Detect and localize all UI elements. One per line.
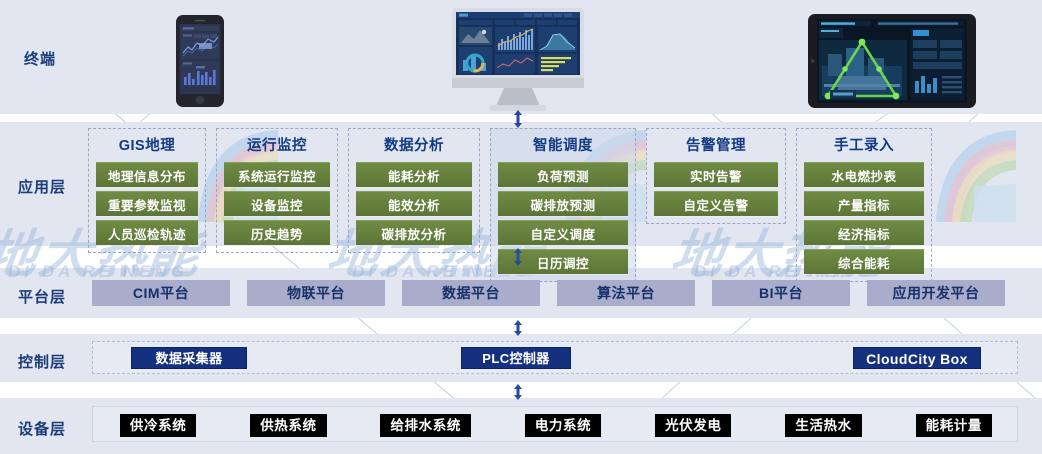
device-item-water-supply-drainage[interactable]: 给排水系统 bbox=[380, 414, 471, 437]
control-item-cloudcity-box[interactable]: CloudCity Box bbox=[853, 347, 981, 369]
app-group-data-analysis[interactable]: 数据分析 能耗分析 能效分析 碳排放分析 bbox=[348, 128, 480, 253]
app-item-data-2[interactable]: 碳排放分析 bbox=[356, 220, 472, 245]
layer-label-terminal: 终端 bbox=[24, 48, 56, 69]
device-item-cooling[interactable]: 供冷系统 bbox=[120, 414, 196, 437]
application-group-row: GIS地理 地理信息分布 重要参数监视 人员巡检轨迹 运行监控 系统运行监控 设… bbox=[88, 128, 932, 282]
app-group-title-smart-scheduling: 智能调度 bbox=[498, 133, 628, 158]
device-item-power[interactable]: 电力系统 bbox=[525, 414, 601, 437]
app-item-alarm-0[interactable]: 实时告警 bbox=[654, 162, 778, 187]
terminal-device-monitor bbox=[452, 8, 584, 114]
platform-item-data[interactable]: 数据平台 bbox=[402, 280, 540, 306]
platform-item-app-dev[interactable]: 应用开发平台 bbox=[867, 280, 1005, 306]
platform-item-cim[interactable]: CIM平台 bbox=[92, 280, 230, 306]
arrow-control-device bbox=[512, 384, 524, 400]
control-item-plc-controller[interactable]: PLC控制器 bbox=[461, 347, 571, 369]
app-item-manual-1[interactable]: 产量指标 bbox=[804, 191, 924, 216]
app-group-alarm-management[interactable]: 告警管理 实时告警 自定义告警 bbox=[646, 128, 786, 224]
platform-item-algorithm[interactable]: 算法平台 bbox=[557, 280, 695, 306]
app-group-title-operation-monitoring: 运行监控 bbox=[224, 133, 330, 158]
terminal-device-smartphone bbox=[176, 15, 224, 107]
app-item-sched-0[interactable]: 负荷预测 bbox=[498, 162, 628, 187]
app-item-sched-1[interactable]: 碳排放预测 bbox=[498, 191, 628, 216]
control-item-container: 数据采集器 PLC控制器 CloudCity Box bbox=[92, 341, 1018, 374]
device-item-energy-metering[interactable]: 能耗计量 bbox=[916, 414, 992, 437]
device-item-row: 供冷系统 供热系统 给排水系统 电力系统 光伏发电 生活热水 能耗计量 bbox=[93, 407, 1019, 443]
app-item-gis-0[interactable]: 地理信息分布 bbox=[96, 162, 198, 187]
architecture-diagram: 地大热能 DI DA RE NENG 地大热能 DI DA RE NENG 地大… bbox=[0, 0, 1042, 454]
arrow-application-platform bbox=[512, 248, 524, 266]
app-item-alarm-1[interactable]: 自定义告警 bbox=[654, 191, 778, 216]
app-item-manual-3[interactable]: 综合能耗 bbox=[804, 249, 924, 274]
app-group-title-alarm-management: 告警管理 bbox=[654, 133, 778, 158]
device-item-photovoltaic[interactable]: 光伏发电 bbox=[655, 414, 731, 437]
device-item-domestic-hot-water[interactable]: 生活热水 bbox=[785, 414, 861, 437]
app-group-operation-monitoring[interactable]: 运行监控 系统运行监控 设备监控 历史趋势 bbox=[216, 128, 338, 253]
app-item-data-0[interactable]: 能耗分析 bbox=[356, 162, 472, 187]
layer-label-device: 设备层 bbox=[18, 418, 66, 439]
app-item-sched-2[interactable]: 自定义调度 bbox=[498, 220, 628, 245]
app-item-gis-1[interactable]: 重要参数监视 bbox=[96, 191, 198, 216]
app-item-manual-0[interactable]: 水电燃抄表 bbox=[804, 162, 924, 187]
platform-item-bi[interactable]: BI平台 bbox=[712, 280, 850, 306]
app-item-gis-2[interactable]: 人员巡检轨迹 bbox=[96, 220, 198, 245]
terminal-device-tablet bbox=[808, 14, 976, 108]
arrow-platform-control bbox=[512, 320, 524, 336]
arrow-terminal-application bbox=[512, 110, 524, 128]
layer-label-control: 控制层 bbox=[18, 351, 66, 372]
app-item-data-1[interactable]: 能效分析 bbox=[356, 191, 472, 216]
app-item-operation-1[interactable]: 设备监控 bbox=[224, 191, 330, 216]
device-item-container: 供冷系统 供热系统 给排水系统 电力系统 光伏发电 生活热水 能耗计量 bbox=[92, 406, 1018, 442]
device-item-heating[interactable]: 供热系统 bbox=[250, 414, 326, 437]
app-group-title-data-analysis: 数据分析 bbox=[356, 133, 472, 158]
app-group-title-manual-entry: 手工录入 bbox=[804, 133, 924, 158]
layer-label-platform: 平台层 bbox=[18, 286, 66, 307]
layer-label-application: 应用层 bbox=[18, 176, 66, 197]
control-item-data-collector[interactable]: 数据采集器 bbox=[131, 347, 247, 369]
app-item-operation-0[interactable]: 系统运行监控 bbox=[224, 162, 330, 187]
app-item-operation-2[interactable]: 历史趋势 bbox=[224, 220, 330, 245]
app-group-manual-entry[interactable]: 手工录入 水电燃抄表 产量指标 经济指标 综合能耗 bbox=[796, 128, 932, 282]
app-group-title-gis: GIS地理 bbox=[96, 133, 198, 158]
platform-item-iot[interactable]: 物联平台 bbox=[247, 280, 385, 306]
app-item-manual-2[interactable]: 经济指标 bbox=[804, 220, 924, 245]
app-group-gis[interactable]: GIS地理 地理信息分布 重要参数监视 人员巡检轨迹 bbox=[88, 128, 206, 253]
platform-item-row: CIM平台 物联平台 数据平台 算法平台 BI平台 应用开发平台 bbox=[92, 280, 1005, 306]
